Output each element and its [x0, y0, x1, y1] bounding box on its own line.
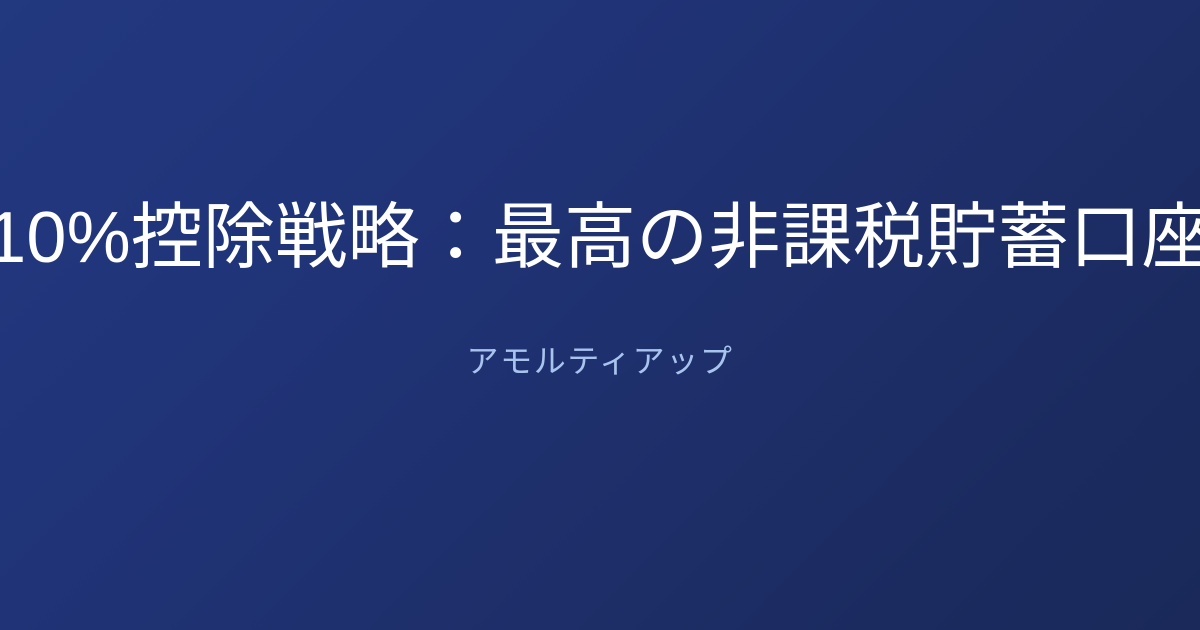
og-share-card: 10%控除戦略：最高の非課税貯蓄口座 アモルティアップ — [0, 0, 1200, 630]
card-content: 10%控除戦略：最高の非課税貯蓄口座 アモルティアップ — [40, 195, 1160, 382]
page-title: 10%控除戦略：最高の非課税貯蓄口座 — [0, 195, 1200, 283]
site-name-subtitle: アモルティアップ — [467, 341, 734, 383]
